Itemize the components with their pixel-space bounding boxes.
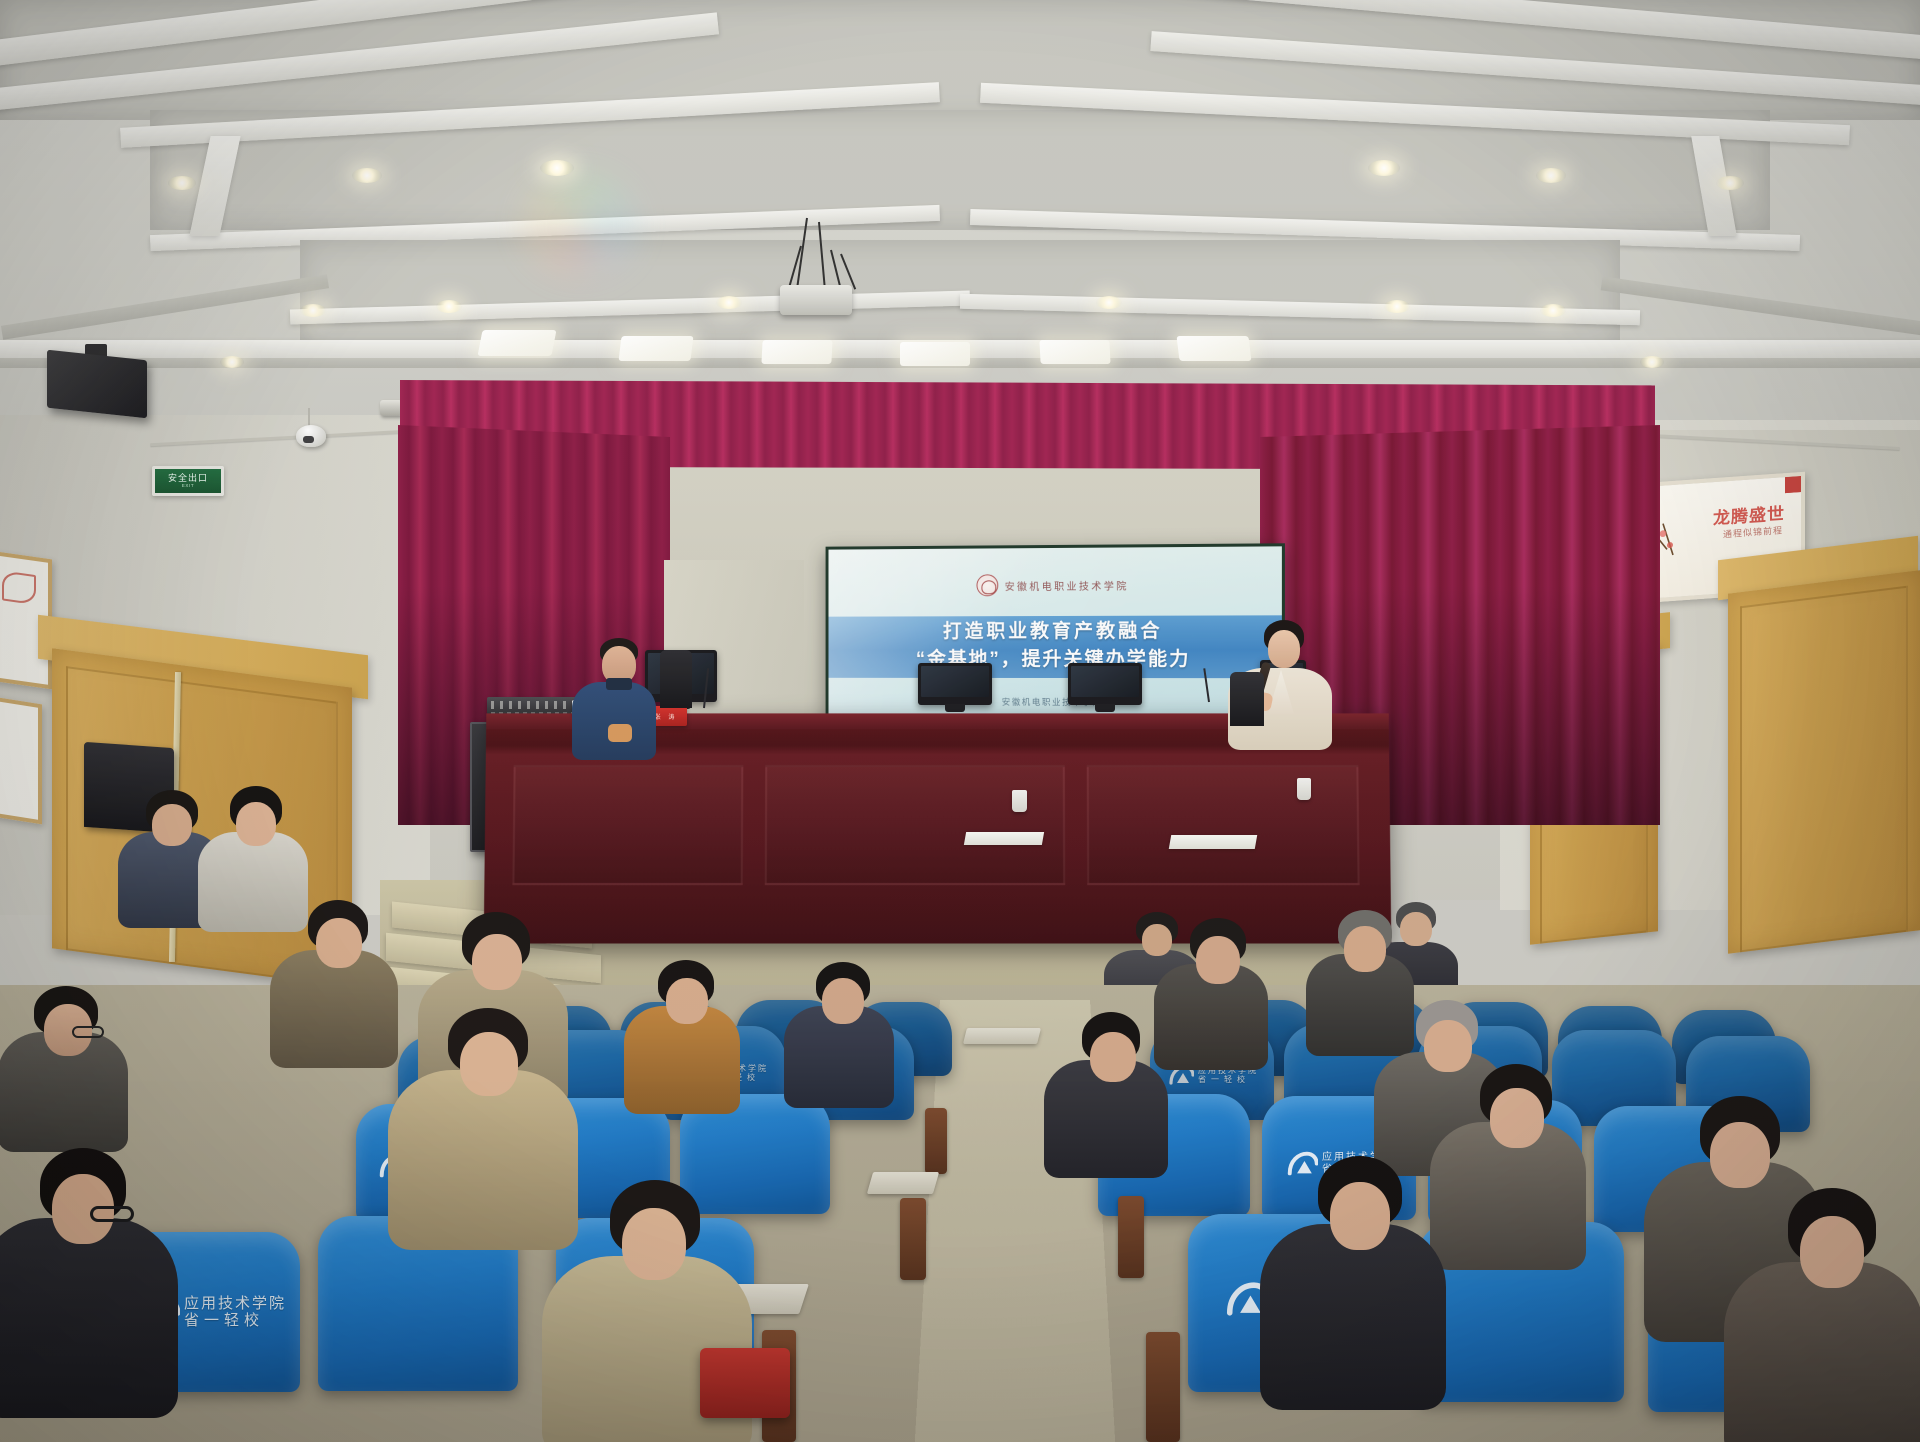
slide-presenter-org: 安徽机电职业技术学院 — [829, 696, 1282, 709]
ceiling-panel-light — [1176, 336, 1251, 361]
armrest — [1146, 1332, 1180, 1442]
seat-cover-line2: 省一轻校 — [1198, 1075, 1258, 1084]
ceiling-panel-light — [900, 342, 970, 366]
presenter-left-torso — [572, 682, 656, 760]
armrest — [925, 1108, 947, 1174]
presenter-monitor — [918, 663, 992, 705]
seat-cover-line1: 应用技术学院 — [184, 1296, 286, 1313]
ceiling-panel-light — [618, 336, 693, 361]
university-seal-icon — [976, 574, 998, 596]
downlight — [1640, 356, 1664, 368]
ceiling-panel-light — [761, 340, 832, 364]
exit-sign-label-en: EXIT — [182, 483, 194, 488]
water-cup — [1297, 778, 1311, 800]
presenter-right-chair — [1230, 672, 1264, 726]
emergency-exit-sign: 安全出口 EXIT — [152, 466, 224, 496]
downlight — [1368, 160, 1400, 176]
ceiling-projector — [780, 285, 852, 315]
tablet-arm — [963, 1028, 1041, 1044]
downlight — [352, 168, 382, 183]
downlight — [300, 304, 326, 317]
dome-security-camera — [296, 425, 326, 447]
wall-speaker — [47, 350, 147, 419]
presenter-left-hands — [608, 724, 632, 742]
poster-mark-icon — [2, 570, 36, 605]
dome-security-camera — [380, 400, 402, 416]
armrest — [1118, 1196, 1144, 1278]
slide-header: 安徽机电职业技术学院 — [829, 573, 1282, 597]
downlight — [168, 176, 196, 190]
ceiling-panel-light — [477, 330, 556, 356]
documents — [1169, 835, 1257, 849]
eyeglasses-icon — [90, 1206, 134, 1222]
tablet-arm — [867, 1172, 939, 1194]
auditorium-scene: 安全出口 EXIT 制度牌 龙腾盛世 通程似锦前程 — [0, 0, 1920, 1442]
lens-flare — [520, 170, 640, 280]
slide-title-line2: “金基地”，提升关键办学能力 — [829, 645, 1282, 673]
downlight — [1716, 176, 1744, 190]
exit-sign-label-cn: 安全出口 — [168, 474, 208, 483]
downlight — [540, 160, 574, 176]
wall-poster — [0, 696, 42, 825]
app-tech-college-logo — [1286, 1150, 1318, 1177]
presenter-left-chair — [660, 650, 692, 708]
downlight — [436, 300, 462, 313]
presenter-left-collar — [606, 678, 632, 690]
eyeglasses-icon — [72, 1026, 104, 1038]
slide-university-name: 安徽机电职业技术学院 — [1005, 577, 1129, 593]
seat-cover-line2: 省一轻校 — [184, 1313, 286, 1330]
armrest — [900, 1198, 926, 1280]
red-banner-subtitle: 通程似锦前程 — [1723, 523, 1783, 540]
red-bag — [700, 1348, 790, 1418]
downlight — [1536, 168, 1566, 183]
documents — [964, 832, 1044, 845]
downlight — [220, 356, 244, 368]
downlight — [1384, 300, 1410, 313]
downlight — [1096, 296, 1122, 309]
ceiling-panel-light — [1039, 340, 1110, 364]
slide-title-line1: 打造职业教育产教融合 — [829, 617, 1282, 645]
presenter-right-head — [1268, 630, 1300, 668]
downlight — [716, 296, 742, 309]
slide-title: 打造职业教育产教融合 “金基地”，提升关键办学能力 — [829, 617, 1282, 673]
presenter-monitor — [1068, 663, 1142, 705]
water-cup — [1012, 790, 1027, 812]
hair-bun — [508, 922, 524, 936]
right-door-b[interactable] — [1728, 570, 1920, 954]
downlight — [1540, 304, 1566, 317]
